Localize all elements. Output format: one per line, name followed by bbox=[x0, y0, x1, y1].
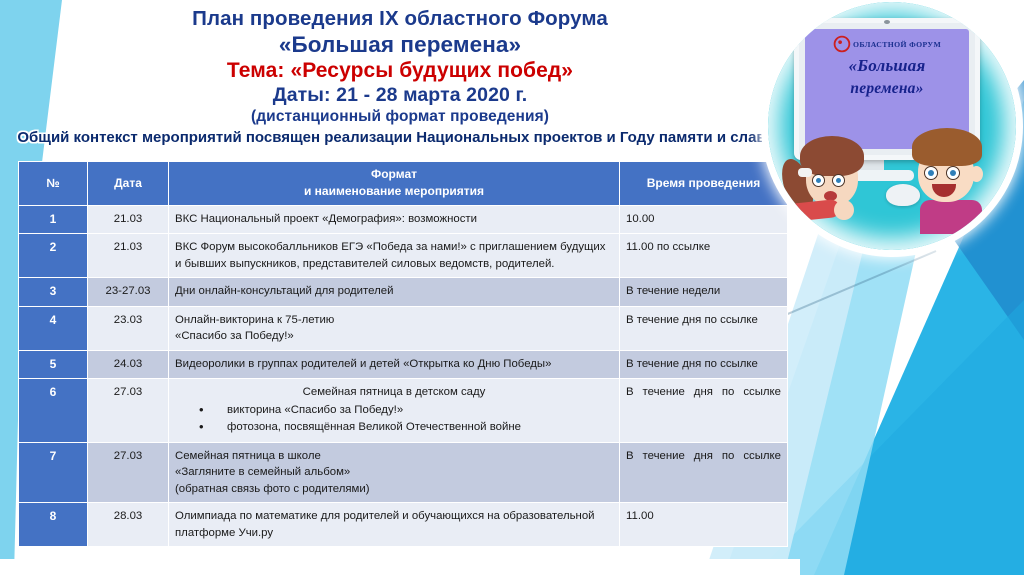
row-event-title: Семейная пятница в детском саду bbox=[175, 384, 613, 401]
slide-title-block: План проведения IX областного Форума «Бо… bbox=[0, 8, 800, 146]
row-date-cell: 28.03 bbox=[88, 503, 168, 546]
row-date-cell: 24.03 bbox=[88, 351, 168, 378]
row-date-cell: 21.03 bbox=[88, 206, 168, 233]
row-event-bullet-list: викторина «Спасибо за Победу!»фотозона, … bbox=[175, 402, 613, 436]
title-line-1: План проведения IX областного Форума bbox=[0, 8, 800, 31]
title-dates: Даты: 21 - 28 марта 2020 г. bbox=[0, 85, 800, 107]
row-event-cell: Видеоролики в группах родителей и детей … bbox=[169, 351, 619, 378]
row-time-cell: 10.00 bbox=[620, 206, 787, 233]
row-number-cell: 2 bbox=[19, 234, 87, 277]
row-event-cell: Дни онлайн-консультаций для родителей bbox=[169, 278, 619, 305]
girl-eye-left bbox=[812, 174, 825, 187]
row-event-bullet-item: фотозона, посвящённая Великой Отечествен… bbox=[199, 419, 613, 436]
row-date-cell: 23.03 bbox=[88, 307, 168, 350]
row-event-cell: Семейная пятница в школе«Загляните в сем… bbox=[169, 443, 619, 503]
row-time-cell: 11.00 по ссылке bbox=[620, 234, 787, 277]
badge-brand-subtitle: ОБЛАСТНОЙ ФОРУМ bbox=[853, 40, 941, 48]
column-header-date: Дата bbox=[88, 162, 168, 205]
title-context-note: Общий контекст мероприятий посвящен реал… bbox=[0, 129, 800, 146]
row-date-cell: 23-27.03 bbox=[88, 278, 168, 305]
boy-eye-right bbox=[946, 166, 960, 180]
row-event-line: ВКС Национальный проект «Демография»: во… bbox=[175, 211, 613, 228]
row-number-cell: 7 bbox=[19, 443, 87, 503]
row-event-line: Онлайн-викторина к 75-летию bbox=[175, 312, 613, 329]
table-row: 221.03ВКС Форум высокобалльников ЕГЭ «По… bbox=[19, 234, 787, 277]
table-row: 727.03Семейная пятница в школе«Загляните… bbox=[19, 443, 787, 503]
column-header-event-bottom: и наименование мероприятия bbox=[173, 183, 615, 200]
row-event-line: Семейная пятница в школе bbox=[175, 448, 613, 465]
row-event-bullet-item: викторина «Спасибо за Победу!» bbox=[199, 402, 613, 419]
boy-eye-left bbox=[924, 166, 938, 180]
row-time-cell: В течение дня по ссылке bbox=[620, 443, 787, 503]
forum-logo-badge: ОБЛАСТНОЙ ФОРУМ «Большая перемена» bbox=[768, 2, 1016, 250]
row-event-cell: Онлайн-викторина к 75-летию«Спасибо за П… bbox=[169, 307, 619, 350]
girl-character-illustration bbox=[794, 128, 868, 224]
row-time-cell: В течение недели bbox=[620, 278, 787, 305]
table-body: 121.03ВКС Национальный проект «Демографи… bbox=[19, 206, 787, 547]
boy-character-illustration bbox=[908, 122, 992, 232]
column-header-time: Время проведения bbox=[620, 162, 787, 205]
table-row: 524.03Видеоролики в группах родителей и … bbox=[19, 351, 787, 378]
row-event-cell: Семейная пятница в детском садувикторина… bbox=[169, 379, 619, 442]
target-mark-icon bbox=[833, 36, 850, 53]
row-event-cell: ВКС Национальный проект «Демография»: во… bbox=[169, 206, 619, 233]
row-event-cell: ВКС Форум высокобалльников ЕГЭ «Победа з… bbox=[169, 234, 619, 277]
row-date-cell: 21.03 bbox=[88, 234, 168, 277]
table-row: 627.03Семейная пятница в детском садувик… bbox=[19, 379, 787, 442]
girl-hair-band bbox=[798, 168, 812, 177]
row-date-cell: 27.03 bbox=[88, 443, 168, 503]
row-event-line: Дни онлайн-консультаций для родителей bbox=[175, 283, 613, 300]
row-date-cell: 27.03 bbox=[88, 379, 168, 442]
row-number-cell: 1 bbox=[19, 206, 87, 233]
plan-table-wrapper: № Дата Формат и наименование мероприятия… bbox=[18, 161, 785, 547]
row-number-cell: 5 bbox=[19, 351, 87, 378]
row-number-cell: 6 bbox=[19, 379, 87, 442]
event-plan-table: № Дата Формат и наименование мероприятия… bbox=[18, 161, 788, 547]
boy-hair bbox=[912, 128, 982, 166]
row-event-line: «Спасибо за Победу!» bbox=[175, 328, 613, 345]
boy-body bbox=[920, 200, 982, 234]
title-format-note: (дистанционный формат проведения) bbox=[0, 108, 800, 125]
column-header-number: № bbox=[19, 162, 87, 205]
badge-brand-line-1: «Большая bbox=[849, 56, 926, 75]
row-time-cell: В течение дня по ссылке bbox=[620, 307, 787, 350]
title-theme: Тема: «Ресурсы будущих побед» bbox=[0, 59, 800, 83]
row-time-cell: 11.00 bbox=[620, 503, 787, 546]
table-row: 121.03ВКС Национальный проект «Демографи… bbox=[19, 206, 787, 233]
webcam-icon bbox=[884, 20, 890, 24]
girl-hand bbox=[834, 200, 854, 220]
row-time-cell: В течение дня по ссылке bbox=[620, 379, 787, 442]
column-header-event: Формат и наименование мероприятия bbox=[169, 162, 619, 205]
row-number-cell: 4 bbox=[19, 307, 87, 350]
badge-brand-row: ОБЛАСТНОЙ ФОРУМ bbox=[833, 36, 940, 53]
row-number-cell: 8 bbox=[19, 503, 87, 546]
background-bottom-strip bbox=[0, 559, 800, 575]
table-header-row: № Дата Формат и наименование мероприятия… bbox=[19, 162, 787, 205]
row-event-line: (обратная связь фото с родителями) bbox=[175, 481, 613, 498]
row-number-cell: 3 bbox=[19, 278, 87, 305]
table-row: 828.03Олимпиада по математике для родите… bbox=[19, 503, 787, 546]
presentation-slide: План проведения IX областного Форума «Бо… bbox=[0, 0, 1024, 575]
row-event-line: «Загляните в семейный альбом» bbox=[175, 464, 613, 481]
column-header-event-top: Формат bbox=[173, 166, 615, 183]
table-row: 323-27.03Дни онлайн-консультаций для род… bbox=[19, 278, 787, 305]
row-event-line: ВКС Форум высокобалльников ЕГЭ «Победа з… bbox=[175, 239, 613, 272]
girl-eye-right bbox=[832, 174, 845, 187]
row-event-line: Олимпиада по математике для родителей и … bbox=[175, 508, 613, 541]
table-row: 423.03Онлайн-викторина к 75-летию«Спасиб… bbox=[19, 307, 787, 350]
row-time-cell: В течение дня по ссылке bbox=[620, 351, 787, 378]
badge-brand-line-2: перемена» bbox=[850, 80, 923, 97]
row-event-line: Видеоролики в группах родителей и детей … bbox=[175, 356, 613, 373]
title-line-2: «Большая перемена» bbox=[0, 32, 800, 57]
row-event-cell: Олимпиада по математике для родителей и … bbox=[169, 503, 619, 546]
